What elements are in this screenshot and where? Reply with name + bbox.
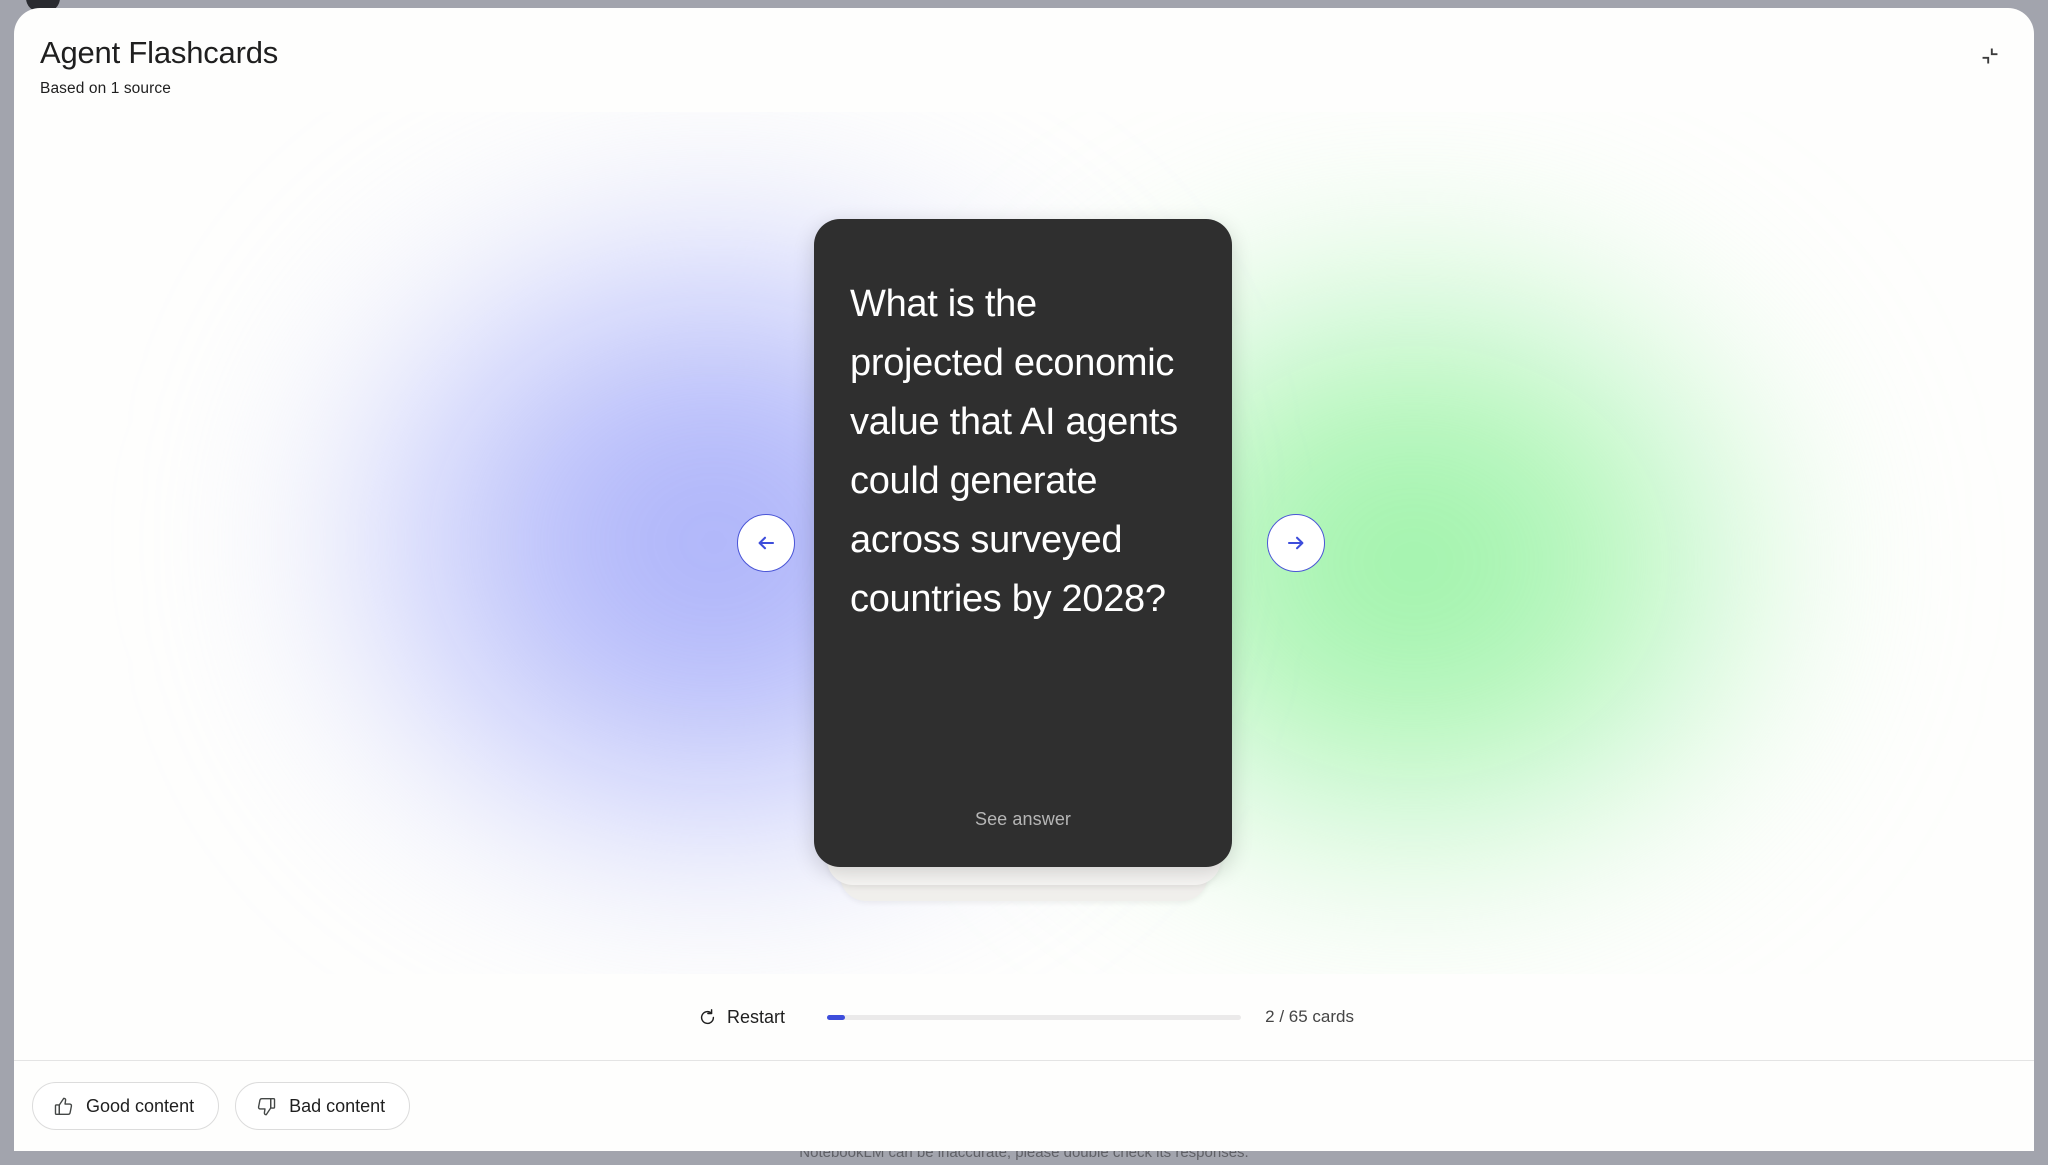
bad-content-button[interactable]: Bad content — [235, 1082, 410, 1130]
restart-button[interactable]: Restart — [694, 1001, 789, 1034]
thumbs-down-icon — [256, 1096, 277, 1117]
collapse-icon — [1980, 46, 2000, 66]
playback-controls-inner: Restart 2 / 65 cards — [694, 1001, 1354, 1034]
flashcards-panel: Agent Flashcards Based on 1 source What … — [14, 8, 2034, 1151]
good-content-label: Good content — [86, 1096, 194, 1117]
panel-header: Agent Flashcards Based on 1 source — [14, 8, 2034, 112]
feedback-bar: Good content Bad content — [14, 1061, 2034, 1151]
playback-controls: Restart 2 / 65 cards — [14, 974, 2034, 1060]
restart-icon — [698, 1008, 717, 1027]
previous-card-button[interactable] — [737, 514, 795, 572]
restart-label: Restart — [727, 1007, 785, 1028]
page-title: Agent Flashcards — [40, 34, 2004, 72]
progress-bar[interactable] — [827, 1015, 1241, 1020]
next-card-button[interactable] — [1267, 514, 1325, 572]
progress-bar-fill — [827, 1015, 845, 1020]
flashcard-stage: What is the projected economic value tha… — [14, 112, 2034, 974]
card-counter: 2 / 65 cards — [1265, 1007, 1354, 1027]
thumbs-up-icon — [53, 1096, 74, 1117]
arrow-left-icon — [754, 531, 778, 555]
bad-content-label: Bad content — [289, 1096, 385, 1117]
good-content-button[interactable]: Good content — [32, 1082, 219, 1130]
card-stack: What is the projected economic value tha… — [814, 219, 1234, 867]
flashcard[interactable]: What is the projected economic value tha… — [814, 219, 1232, 867]
flashcard-question: What is the projected economic value tha… — [850, 275, 1196, 807]
arrow-right-icon — [1284, 531, 1308, 555]
source-count-label: Based on 1 source — [40, 78, 2004, 100]
collapse-button[interactable] — [1970, 36, 2010, 76]
see-answer-label[interactable]: See answer — [850, 807, 1196, 867]
